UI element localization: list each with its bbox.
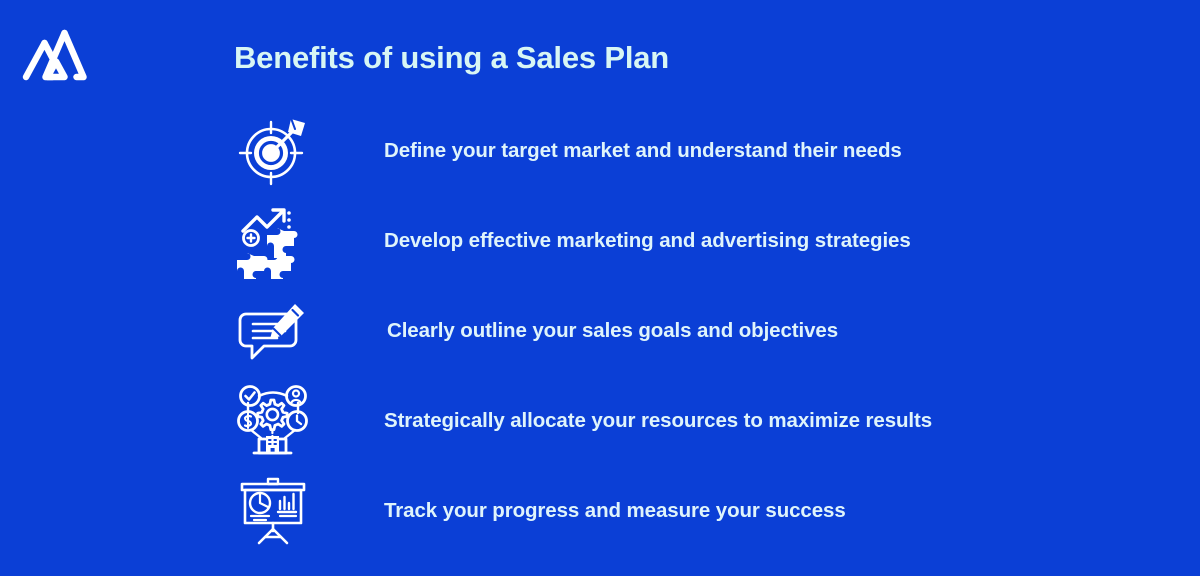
- benefit-item[interactable]: Clearly outline your sales goals and obj…: [230, 293, 1190, 368]
- target-arrow-icon: [230, 113, 316, 188]
- benefit-label: Track your progress and measure your suc…: [384, 499, 1190, 523]
- speech-bubble-pencil-icon: [230, 293, 316, 368]
- benefit-label: Clearly outline your sales goals and obj…: [387, 319, 1190, 343]
- benefit-item[interactable]: Strategically allocate your resources to…: [230, 383, 1190, 458]
- benefit-item[interactable]: Develop effective marketing and advertis…: [230, 203, 1190, 278]
- growth-chart-puzzle-icon: [230, 203, 316, 278]
- presentation-board-chart-icon: [230, 473, 316, 548]
- benefit-label: Develop effective marketing and advertis…: [384, 229, 1190, 253]
- benefits-list: Define your target market and understand…: [230, 113, 1190, 563]
- page-title: Benefits of using a Sales Plan: [234, 38, 669, 78]
- resource-allocation-gear-icon: [230, 383, 316, 458]
- benefit-label: Strategically allocate your resources to…: [384, 409, 1190, 433]
- mountain-logo: [20, 27, 92, 85]
- slide-canvas: Benefits of using a Sales Plan Def: [0, 0, 1200, 576]
- benefit-label: Define your target market and understand…: [384, 139, 1190, 163]
- benefit-item[interactable]: Track your progress and measure your suc…: [230, 473, 1190, 548]
- benefit-item[interactable]: Define your target market and understand…: [230, 113, 1190, 188]
